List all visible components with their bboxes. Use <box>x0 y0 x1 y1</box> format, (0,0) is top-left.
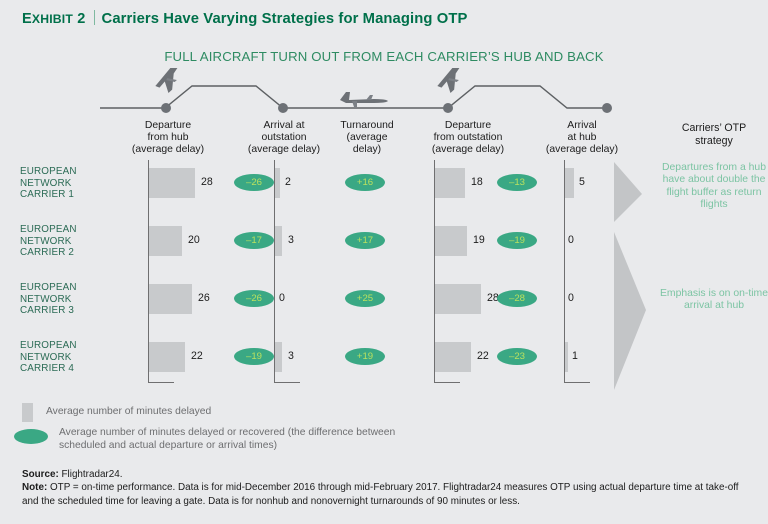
column-header-turnaround: Turnaround (average delay) <box>323 120 411 157</box>
row-label-line1: EUROPEAN <box>20 224 116 236</box>
aircraft-takeoff-icon-1 <box>151 68 194 96</box>
col-head-line3: delay) <box>323 144 411 156</box>
col-head-line2: (average <box>323 132 411 144</box>
value-dep-out-row-2: 19 <box>473 234 485 246</box>
row-label-line3: CARRIER 1 <box>20 189 116 201</box>
title-divider <box>94 10 95 25</box>
value-arr-hub-row-4: 1 <box>572 350 578 362</box>
col-head-line1: Turnaround <box>323 120 411 132</box>
pill-dep-hub-row-3: –26 <box>234 290 274 307</box>
row-label-line2: NETWORK <box>20 352 116 364</box>
row-label-carrier-4: EUROPEAN NETWORK CARRIER 4 <box>20 340 116 375</box>
pill-dep-hub-row-4: –19 <box>234 348 274 365</box>
col-head-line1: Departure <box>405 120 531 132</box>
pill-turnaround-row-4: +19 <box>345 348 385 365</box>
arrow-strategy-1 <box>614 162 642 222</box>
pill-turnaround-row-3: +25 <box>345 290 385 307</box>
arrow-strategy-2 <box>614 232 646 390</box>
footnote-note-text: OTP = on-time performance. Data is for m… <box>22 482 739 506</box>
row-label-line2: NETWORK <box>20 294 116 306</box>
footnote-source-label: Source: <box>22 469 59 480</box>
pill-dep-out-row-2: –19 <box>497 232 537 249</box>
strategy-arrows <box>612 160 658 392</box>
exhibit-prefix-cap: E <box>22 11 32 27</box>
exhibit-label: EXHIBIT 2 <box>22 11 86 27</box>
page-title: EXHIBIT 2 Carriers Have Varying Strategi… <box>22 8 467 27</box>
column-header-departure-from-hub: Departure from hub (average delay) <box>105 120 231 157</box>
row-label-line2: NETWORK <box>20 236 116 248</box>
value-dep-out-row-1: 18 <box>471 176 483 188</box>
bar-dep-out-row-1 <box>435 168 465 198</box>
strategy-note-1: Departures from a hub have about double … <box>660 162 768 212</box>
pill-turnaround-row-1: +16 <box>345 174 385 191</box>
row-label-line3: CARRIER 4 <box>20 363 116 375</box>
value-arr-out-row-2: 3 <box>288 234 294 246</box>
col-head-line2: from hub <box>105 132 231 144</box>
row-label-carrier-1: EUROPEAN NETWORK CARRIER 1 <box>20 166 116 201</box>
exhibit-prefix-rest: XHIBIT <box>32 12 73 26</box>
legend-swatch-bar-icon <box>22 403 33 422</box>
bar-arr-hub-row-4 <box>565 342 568 372</box>
col-head-line3: (average delay) <box>105 144 231 156</box>
legend-label-pill-line1: Average number of minutes delayed or rec… <box>59 427 395 440</box>
pill-dep-hub-row-2: –17 <box>234 232 274 249</box>
row-label-line3: CARRIER 2 <box>20 247 116 259</box>
row-label-line1: EUROPEAN <box>20 340 116 352</box>
legend-label-pill-line2: scheduled and actual departure or arriva… <box>59 440 395 453</box>
row-label-carrier-2: EUROPEAN NETWORK CARRIER 2 <box>20 224 116 259</box>
axis-foot-departure-from-hub <box>148 382 174 383</box>
row-label-line1: EUROPEAN <box>20 282 116 294</box>
value-dep-out-row-4: 22 <box>477 350 489 362</box>
value-arr-hub-row-1: 5 <box>579 176 585 188</box>
legend-item-pill: Average number of minutes delayed or rec… <box>14 427 395 452</box>
axis-foot-departure-from-outstation <box>434 382 460 383</box>
strategy-head-line1: Carriers’ OTP <box>660 122 768 135</box>
flight-path-svg <box>0 68 768 116</box>
row-label-carrier-3: EUROPEAN NETWORK CARRIER 3 <box>20 282 116 317</box>
chart-subtitle: FULL AIRCRAFT TURN OUT FROM EACH CARRIER… <box>0 49 768 64</box>
dot-departure-outstation <box>443 103 453 113</box>
row-label-line2: NETWORK <box>20 178 116 190</box>
value-dep-hub-row-2: 20 <box>188 234 200 246</box>
legend-label-bar: Average number of minutes delayed <box>46 406 211 422</box>
footnote-note: Note: OTP = on-time performance. Data is… <box>22 481 752 508</box>
footnote-source-text: Flightradar24. <box>59 469 123 480</box>
value-arr-out-row-3: 0 <box>279 292 285 304</box>
bar-dep-hub-row-3 <box>149 284 192 314</box>
col-head-line3: (average delay) <box>405 144 531 156</box>
dot-arrival-outstation <box>278 103 288 113</box>
bar-dep-hub-row-2 <box>149 226 182 256</box>
bar-arr-out-row-2 <box>275 226 282 256</box>
legend-item-bar: Average number of minutes delayed <box>22 403 211 422</box>
bar-arr-out-row-1 <box>275 168 280 198</box>
bar-dep-out-row-2 <box>435 226 467 256</box>
bar-dep-hub-row-1 <box>149 168 195 198</box>
footnotes: Source: Flightradar24. Note: OTP = on-ti… <box>22 468 752 508</box>
col-head-line1: Departure <box>105 120 231 132</box>
flight-path-diagram <box>0 68 768 116</box>
bar-dep-out-row-3 <box>435 284 481 314</box>
aircraft-takeoff-icon-2 <box>433 68 476 96</box>
bar-dep-out-row-4 <box>435 342 471 372</box>
aircraft-level-icon <box>340 92 388 107</box>
value-arr-hub-row-3: 0 <box>568 292 574 304</box>
footnote-source: Source: Flightradar24. <box>22 468 752 481</box>
strategy-note-2: Emphasis is on on-time arrival at hub <box>660 288 768 313</box>
value-arr-hub-row-2: 0 <box>568 234 574 246</box>
col-head-line2: at hub <box>525 132 639 144</box>
value-arr-out-row-1: 2 <box>285 176 291 188</box>
pill-dep-out-row-1: –13 <box>497 174 537 191</box>
pill-dep-hub-row-1: –26 <box>234 174 274 191</box>
exhibit-root: EXHIBIT 2 Carriers Have Varying Strategi… <box>0 0 768 524</box>
axis-foot-arrival-at-outstation <box>274 382 300 383</box>
bar-dep-hub-row-4 <box>149 342 185 372</box>
legend-label-pill-wrap: Average number of minutes delayed or rec… <box>59 427 395 452</box>
dot-arrival-hub <box>602 103 612 113</box>
footnote-note-label: Note: <box>22 482 47 493</box>
exhibit-number: 2 <box>77 11 85 27</box>
value-dep-hub-row-4: 22 <box>191 350 203 362</box>
column-header-departure-from-outstation: Departure from outstation (average delay… <box>405 120 531 157</box>
row-label-line1: EUROPEAN <box>20 166 116 178</box>
strategy-head-line2: strategy <box>660 135 768 148</box>
value-arr-out-row-4: 3 <box>288 350 294 362</box>
dot-departure-hub <box>161 103 171 113</box>
bar-arr-out-row-4 <box>275 342 282 372</box>
pill-dep-out-row-4: –23 <box>497 348 537 365</box>
col-head-line2: from outstation <box>405 132 531 144</box>
legend-swatch-pill-icon <box>14 429 48 444</box>
value-dep-hub-row-1: 28 <box>201 176 213 188</box>
col-head-line1: Arrival <box>525 120 639 132</box>
chart-plot-area: EUROPEAN NETWORK CARRIER 1 28 –26 2 +16 … <box>0 160 768 392</box>
pill-turnaround-row-2: +17 <box>345 232 385 249</box>
column-header-carriers-otp-strategy: Carriers’ OTP strategy <box>660 122 768 147</box>
col-head-line3: (average delay) <box>525 144 639 156</box>
column-header-arrival-at-hub: Arrival at hub (average delay) <box>525 120 639 157</box>
row-label-line3: CARRIER 3 <box>20 305 116 317</box>
bar-arr-hub-row-1 <box>565 168 574 198</box>
title-text: Carriers Have Varying Strategies for Man… <box>102 11 468 27</box>
axis-foot-arrival-at-hub <box>564 382 590 383</box>
value-dep-hub-row-3: 26 <box>198 292 210 304</box>
pill-dep-out-row-3: –28 <box>497 290 537 307</box>
